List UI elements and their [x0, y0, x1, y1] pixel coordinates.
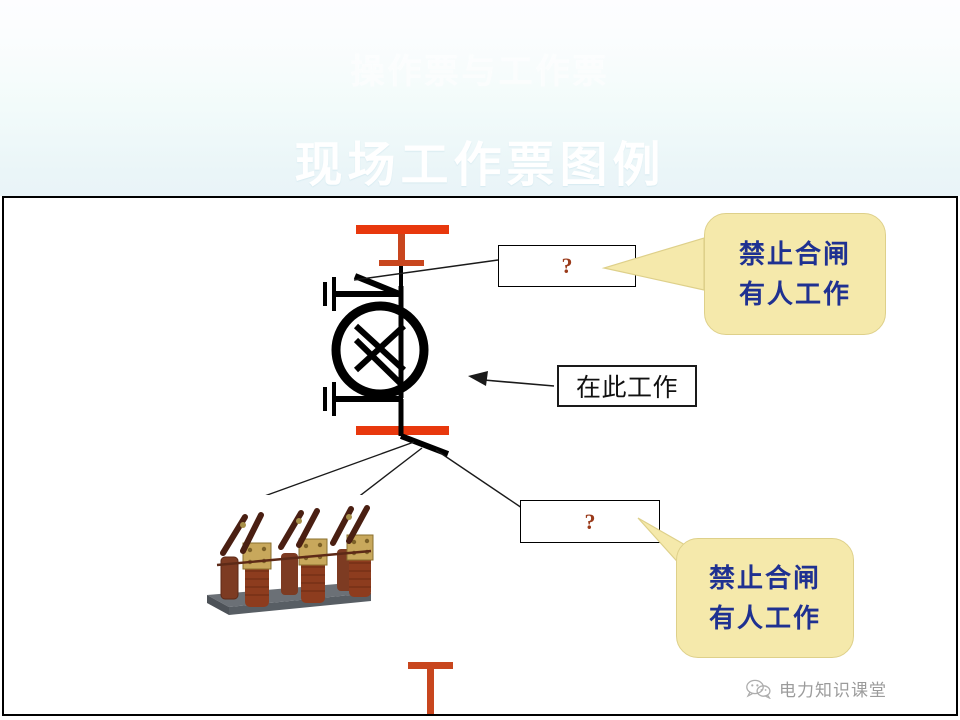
warning-bubble-top: 禁止合闸 有人工作 [704, 213, 886, 335]
warning-bubble-bottom: 禁止合闸 有人工作 [676, 538, 854, 658]
warning-bubble-bottom-line2: 有人工作 [709, 598, 821, 638]
warning-bubble-top-line2: 有人工作 [739, 274, 851, 314]
slide-page: 操作票与工作票 现场工作票图例 [0, 0, 960, 720]
diagram-board: ? ? 在此工作 禁止合闸 有人工作 禁止合闸 有人工作 [2, 196, 958, 716]
wechat-icon [746, 679, 772, 699]
slide-header: 操作票与工作票 现场工作票图例 [0, 0, 960, 196]
bubble-top-tail [604, 238, 704, 290]
warning-bubble-top-line1: 禁止合闸 [739, 234, 851, 274]
watermark: 电力知识课堂 [746, 676, 887, 701]
page-title: 现场工作票图例 [0, 125, 960, 195]
warning-bubble-bottom-line1: 禁止合闸 [709, 558, 821, 598]
watermark-text: 电力知识课堂 [779, 676, 887, 701]
header-subtitle: 操作票与工作票 [0, 44, 960, 93]
